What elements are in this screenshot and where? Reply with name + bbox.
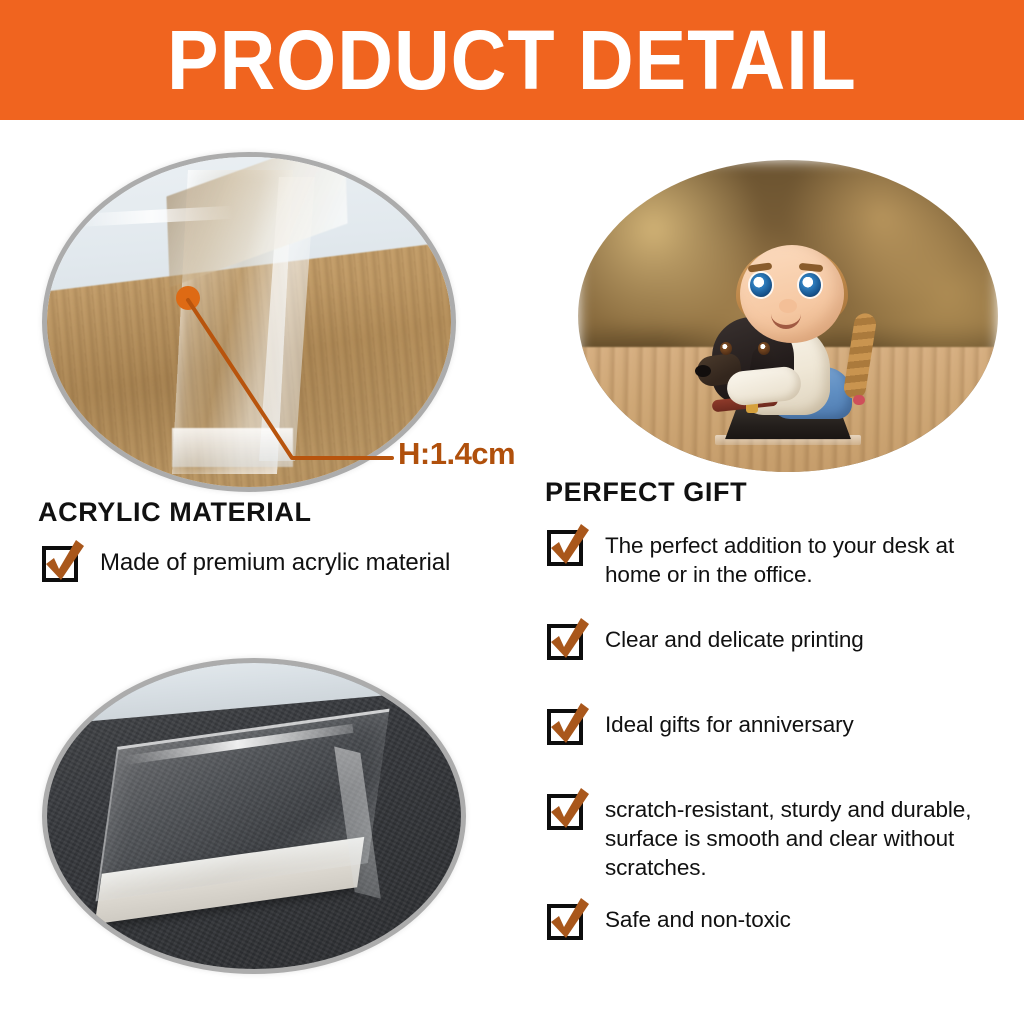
feature-item-gift-4: Safe and non-toxic <box>545 898 1015 944</box>
check-icon <box>545 524 591 570</box>
check-icon <box>545 898 591 944</box>
checkbox-icon <box>545 898 591 944</box>
checkbox-icon <box>545 703 591 749</box>
dimension-label: H:1.4cm <box>398 436 515 472</box>
checkbox-icon <box>545 788 591 834</box>
checkbox-icon <box>545 618 591 664</box>
feature-item-gift-2: Ideal gifts for anniversary <box>545 703 1015 749</box>
figurine <box>693 197 883 447</box>
figurine-braid <box>842 312 877 400</box>
product-detail-page: PRODUCT DETAIL <box>0 0 1024 1024</box>
feature-item-gift-1: Clear and delicate printing <box>545 618 1015 664</box>
heading-acrylic-material: ACRYLIC MATERIAL <box>38 497 312 528</box>
feature-text: Ideal gifts for anniversary <box>605 703 854 740</box>
check-icon <box>545 788 591 834</box>
photo-content <box>578 160 998 472</box>
feature-text: Made of premium acrylic material <box>100 540 450 579</box>
feature-text: The perfect addition to your desk at hom… <box>605 524 1015 590</box>
photo-content <box>47 663 461 969</box>
figurine-photo <box>578 160 998 472</box>
dachshund-nose <box>695 365 711 377</box>
check-icon <box>545 703 591 749</box>
feature-item-gift-3: scratch-resistant, sturdy and durable, s… <box>545 788 1015 882</box>
feature-text: Safe and non-toxic <box>605 898 791 935</box>
feature-text: scratch-resistant, sturdy and durable, s… <box>605 788 1015 882</box>
page-title: PRODUCT DETAIL <box>167 18 857 102</box>
heading-perfect-gift: PERFECT GIFT <box>545 477 747 508</box>
dachshund-eye-right <box>758 342 770 355</box>
dachshund-eye-left <box>720 342 732 355</box>
page-header-banner: PRODUCT DETAIL <box>0 0 1024 120</box>
callout-line <box>188 300 392 458</box>
checkbox-icon <box>545 524 591 570</box>
check-icon <box>40 540 86 586</box>
feature-text: Clear and delicate printing <box>605 618 864 655</box>
callout-dot <box>176 286 200 310</box>
feature-item-gift-0: The perfect addition to your desk at hom… <box>545 524 1015 590</box>
acrylic-slab-photo <box>42 658 466 974</box>
figurine-braid-tie <box>853 395 865 405</box>
checkbox-icon <box>40 540 86 586</box>
figurine-eye-left <box>750 273 772 297</box>
check-icon <box>545 618 591 664</box>
feature-item-acrylic-0: Made of premium acrylic material <box>40 540 520 586</box>
